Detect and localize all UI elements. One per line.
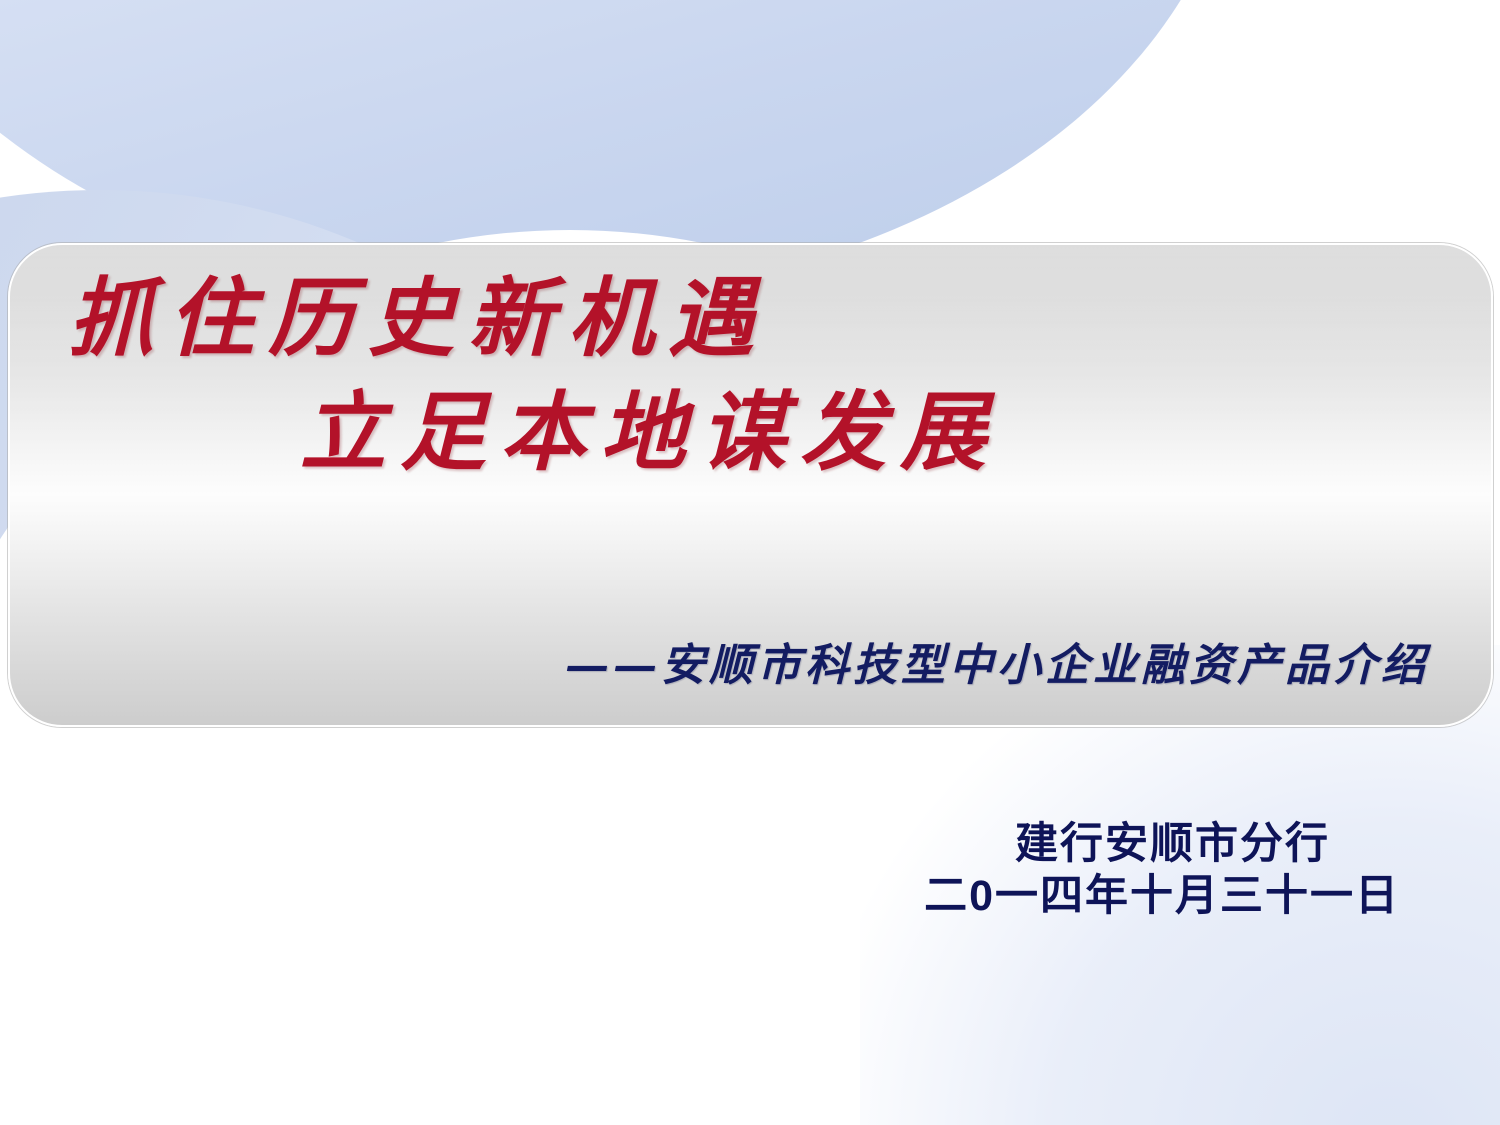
title-block: 抓住历史新机遇 立足本地谋发展 <box>10 271 1491 482</box>
footer-block: 建行安顺市分行 二0一四年十月三十一日 <box>0 818 1330 923</box>
title-slide: 抓住历史新机遇 立足本地谋发展 ——安顺市科技型中小企业融资产品介绍 建行安顺市… <box>0 0 1500 1125</box>
footer-date: 二0一四年十月三十一日 <box>0 870 1400 922</box>
subtitle: ——安顺市科技型中小企业融资产品介绍 <box>10 629 1429 693</box>
title-line-2: 立足本地谋发展 <box>300 385 1491 481</box>
footer-organization: 建行安顺市分行 <box>0 818 1330 870</box>
title-line-1: 抓住历史新机遇 <box>68 271 1491 367</box>
title-panel: 抓住历史新机遇 立足本地谋发展 ——安顺市科技型中小企业融资产品介绍 <box>8 243 1493 727</box>
